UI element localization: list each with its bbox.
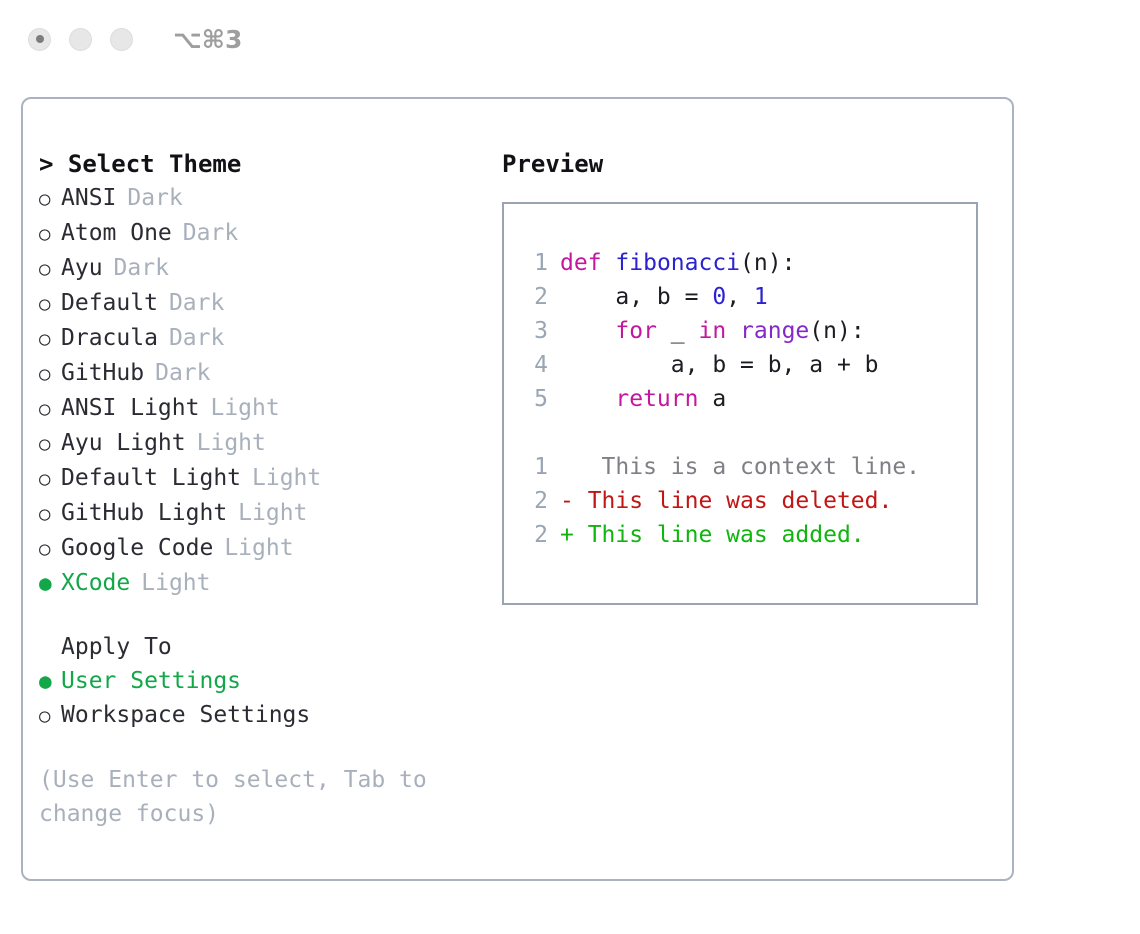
radio-unselected-icon: ○ [39, 217, 61, 251]
theme-option-kind: Light [238, 496, 307, 530]
code-line: 2 a, b = 0, 1 [522, 280, 976, 314]
diff-text: - This line was deleted. [560, 484, 892, 518]
window-titlebar: ⌥⌘3 [0, 0, 1140, 78]
radio-unselected-icon: ○ [39, 497, 61, 531]
radio-unselected-icon: ○ [39, 392, 61, 426]
theme-option[interactable]: ○AyuDark [39, 251, 499, 286]
code-token: (n): [740, 250, 795, 276]
line-number: 2 [522, 280, 548, 314]
theme-option[interactable]: ○GitHub LightLight [39, 496, 499, 531]
radio-unselected-icon: ○ [39, 252, 61, 286]
apply-to-option-label: User Settings [61, 664, 241, 698]
code-text: a, b = 0, 1 [560, 280, 768, 314]
radio-selected-icon: ● [39, 664, 61, 698]
traffic-light-dot [36, 35, 44, 43]
code-token [560, 386, 615, 412]
code-token: in [698, 318, 726, 344]
code-sample: 1def fibonacci(n):2 a, b = 0, 13 for _ i… [522, 246, 976, 416]
theme-list: ○ANSIDark○Atom OneDark○AyuDark○DefaultDa… [39, 181, 499, 600]
window-controls [28, 28, 133, 51]
preview-title: Preview [502, 147, 992, 181]
diff-text: + This line was added. [560, 518, 865, 552]
theme-option-kind: Dark [155, 356, 210, 390]
theme-option-label: Ayu [61, 251, 103, 285]
theme-option-label: Default [61, 286, 158, 320]
radio-unselected-icon: ○ [39, 287, 61, 321]
app-window: ⌥⌘3 > Select Theme ○ANSIDark○Atom OneDar… [0, 0, 1140, 934]
radio-unselected-icon: ○ [39, 532, 61, 566]
code-token: (n): [809, 318, 864, 344]
apply-to-section: Apply To [39, 630, 499, 664]
theme-option-label: ANSI Light [61, 391, 199, 425]
line-number: 3 [522, 314, 548, 348]
diff-line: 2- This line was deleted. [522, 484, 976, 518]
code-diff-spacer [522, 416, 976, 450]
diff-text: This is a context line. [560, 450, 920, 484]
theme-option-label: XCode [61, 566, 130, 600]
theme-option[interactable]: ○Ayu LightLight [39, 426, 499, 461]
code-line: 3 for _ in range(n): [522, 314, 976, 348]
theme-option-label: Dracula [61, 321, 158, 355]
line-number: 4 [522, 348, 548, 382]
main-panel: > Select Theme ○ANSIDark○Atom OneDark○Ay… [21, 97, 1014, 881]
code-line: 5 return a [522, 382, 976, 416]
traffic-light-3-icon[interactable] [110, 28, 133, 51]
theme-option[interactable]: ○Google CodeLight [39, 531, 499, 566]
apply-to-option-label: Workspace Settings [61, 698, 310, 732]
theme-option[interactable]: ○Default LightLight [39, 461, 499, 496]
line-number: 1 [522, 246, 548, 280]
theme-option-kind: Light [224, 531, 293, 565]
code-token: for [615, 318, 657, 344]
apply-to-title: Apply To [61, 630, 172, 664]
radio-unselected-icon: ○ [39, 462, 61, 496]
line-number: 5 [522, 382, 548, 416]
code-token [602, 250, 616, 276]
code-line: 1def fibonacci(n): [522, 246, 976, 280]
code-text: for _ in range(n): [560, 314, 865, 348]
theme-option-label: ANSI [61, 181, 116, 215]
theme-option-kind: Dark [169, 286, 224, 320]
theme-option[interactable]: ○GitHubDark [39, 356, 499, 391]
theme-option-label: Ayu Light [61, 426, 186, 460]
radio-selected-icon: ● [39, 566, 61, 600]
theme-option-kind: Dark [169, 321, 224, 355]
code-token: return [615, 386, 698, 412]
code-line: 4 a, b = b, a + b [522, 348, 976, 382]
code-token: def [560, 250, 602, 276]
preview-box: 1def fibonacci(n):2 a, b = 0, 13 for _ i… [502, 202, 978, 605]
code-token [726, 318, 740, 344]
keyboard-shortcut-label: ⌥⌘3 [173, 25, 242, 54]
code-text: def fibonacci(n): [560, 246, 795, 280]
code-token: 0 [712, 284, 726, 310]
theme-option-label: GitHub Light [61, 496, 227, 530]
theme-option-label: GitHub [61, 356, 144, 390]
theme-option-kind: Light [210, 391, 279, 425]
code-token: _ [657, 318, 699, 344]
line-number: 2 [522, 518, 548, 552]
radio-unselected-icon: ○ [39, 182, 61, 216]
radio-unselected-icon: ○ [39, 322, 61, 356]
diff-sample: 1 This is a context line.2- This line wa… [522, 450, 976, 552]
code-text: return a [560, 382, 726, 416]
theme-option-kind: Light [141, 566, 210, 600]
apply-to-list: ●User Settings○Workspace Settings [39, 664, 499, 733]
apply-to-option[interactable]: ●User Settings [39, 664, 499, 698]
theme-option-label: Atom One [61, 216, 172, 250]
code-text: a, b = b, a + b [560, 348, 879, 382]
theme-option-label: Google Code [61, 531, 213, 565]
code-token: fibonacci [615, 250, 740, 276]
page-title: > Select Theme [39, 147, 499, 181]
line-number: 2 [522, 484, 548, 518]
theme-option-label: Default Light [61, 461, 241, 495]
radio-unselected-icon: ○ [39, 357, 61, 391]
keyboard-hint: (Use Enter to select, Tab to change focu… [39, 763, 459, 831]
preview-column: Preview 1def fibonacci(n):2 a, b = 0, 13… [502, 147, 992, 605]
theme-option[interactable]: ○ANSI LightLight [39, 391, 499, 426]
apply-to-option[interactable]: ○Workspace Settings [39, 698, 499, 733]
theme-option[interactable]: ●XCodeLight [39, 566, 499, 600]
diff-line: 1 This is a context line. [522, 450, 976, 484]
code-token: range [740, 318, 809, 344]
code-token: , [726, 284, 754, 310]
code-token: 1 [754, 284, 768, 310]
traffic-light-active-icon[interactable] [28, 28, 51, 51]
theme-option-kind: Light [197, 426, 266, 460]
theme-option[interactable]: ○Atom OneDark [39, 216, 499, 251]
theme-option-kind: Dark [127, 181, 182, 215]
theme-option[interactable]: ○DraculaDark [39, 321, 499, 356]
radio-unselected-icon: ○ [39, 699, 61, 733]
line-number: 1 [522, 450, 548, 484]
theme-option[interactable]: ○ANSIDark [39, 181, 499, 216]
theme-option-kind: Dark [183, 216, 238, 250]
code-token [560, 318, 615, 344]
theme-option[interactable]: ○DefaultDark [39, 286, 499, 321]
traffic-light-2-icon[interactable] [69, 28, 92, 51]
theme-picker-column: > Select Theme ○ANSIDark○Atom OneDark○Ay… [39, 147, 499, 831]
panel-columns: > Select Theme ○ANSIDark○Atom OneDark○Ay… [23, 99, 1012, 879]
code-token: a, b = [560, 284, 712, 310]
diff-line: 2+ This line was added. [522, 518, 976, 552]
radio-unselected-icon: ○ [39, 427, 61, 461]
theme-option-kind: Dark [114, 251, 169, 285]
code-token: a [698, 386, 726, 412]
code-token: a, b = b, a + b [560, 352, 879, 378]
theme-option-kind: Light [252, 461, 321, 495]
